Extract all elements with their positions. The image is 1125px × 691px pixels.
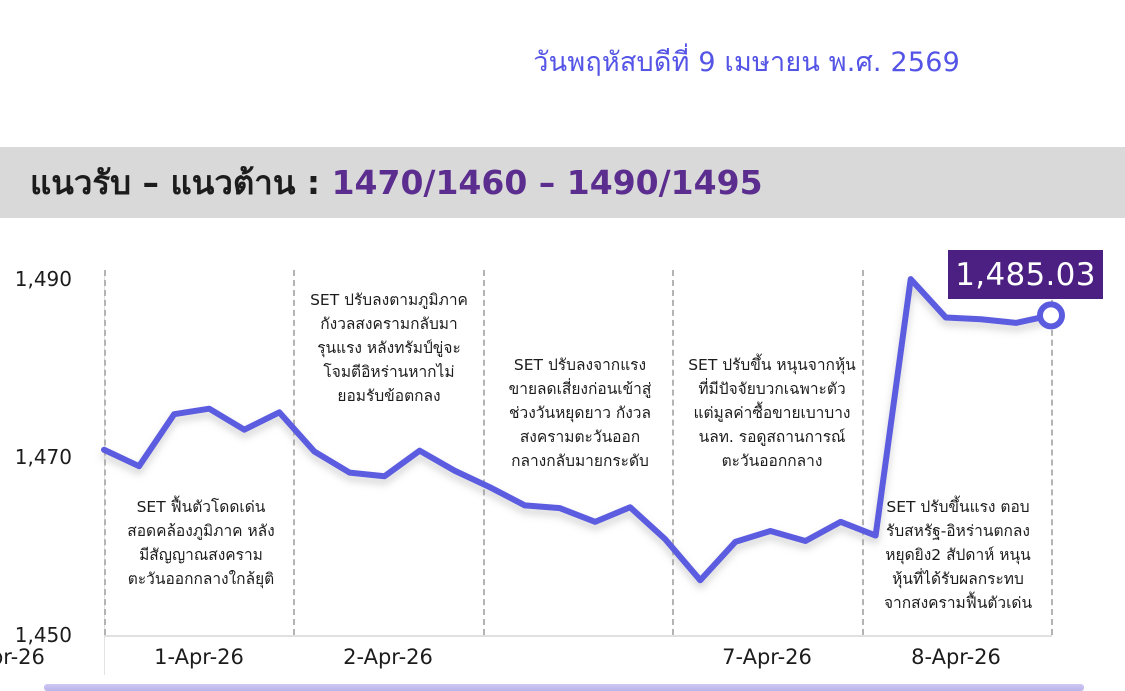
last-value-badge: 1,485.03 [948,250,1103,299]
title-levels: 1470/1460 – 1490/1495 [332,163,763,202]
chart-container: 1,490 1,470 1,450 1-Apr-26 2-Apr-26 3-Ap… [0,230,1125,691]
title-label: แนวรับ – แนวต้าน : [30,163,332,202]
annotation-4: SET ปรับขึ้น หนุนจากหุ้น ที่มีปัจจัยบวกเ… [682,353,862,473]
annotation-1: SET ฟื้นตัวโดดเด่น สอดคล้องภูมิภาค หลัง … [112,495,290,591]
annotation-2: SET ปรับลงตามภูมิภาค กังวลสงครามกลับมา ร… [296,288,482,408]
annotation-5: SET ปรับขึ้นแรง ตอบ รับสหรัฐ-อิหร่านตกลง… [868,495,1048,615]
page-title: แนวรับ – แนวต้าน : 1470/1460 – 1490/1495 [30,156,763,209]
support-resistance-title-band: แนวรับ – แนวต้าน : 1470/1460 – 1490/1495 [0,147,1125,218]
last-value-marker [1040,304,1062,326]
bottom-accent-bar [44,684,1084,691]
header-date: วันพฤหัสบดีที่ 9 เมษายน พ.ศ. 2569 [533,40,960,83]
annotation-3: SET ปรับลงจากแรง ขายลดเสี่ยงก่อนเข้าสู่ … [487,353,673,473]
